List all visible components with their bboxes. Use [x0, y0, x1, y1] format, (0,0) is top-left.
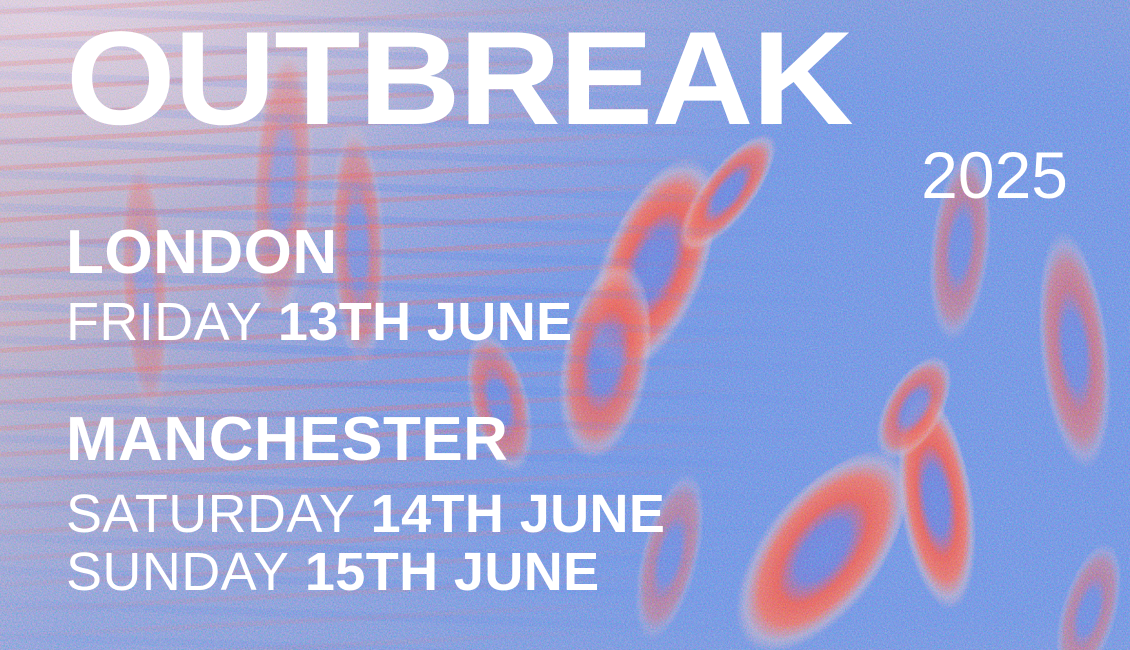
event-city-manchester: MANCHESTER [66, 409, 508, 471]
title-year: 2025 [921, 142, 1068, 208]
event-date-saturday: SATURDAY 14TH JUNE [66, 487, 665, 541]
event-date-15th-june: 15TH JUNE [305, 542, 600, 602]
date-space [355, 484, 370, 544]
event-city-london: LONDON [66, 222, 338, 284]
page-title: OUTBREAK [66, 13, 852, 146]
event-date-london: FRIDAY 13TH JUNE [66, 295, 573, 349]
event-day-sunday: SUNDAY [66, 542, 289, 602]
event-date-14th-june: 14TH JUNE [371, 484, 666, 544]
event-date-sunday: SUNDAY 15TH JUNE [66, 545, 600, 599]
event-date-13th-june: 13TH JUNE [278, 292, 573, 352]
poster-canvas: OUTBREAK 2025 LONDON FRIDAY 13TH JUNE MA… [0, 0, 1130, 650]
poster-content: OUTBREAK 2025 LONDON FRIDAY 13TH JUNE MA… [0, 0, 1130, 650]
event-day-saturday: SATURDAY [66, 484, 355, 544]
event-day-friday: FRIDAY [66, 292, 262, 352]
date-space [289, 542, 304, 602]
date-space [262, 292, 277, 352]
